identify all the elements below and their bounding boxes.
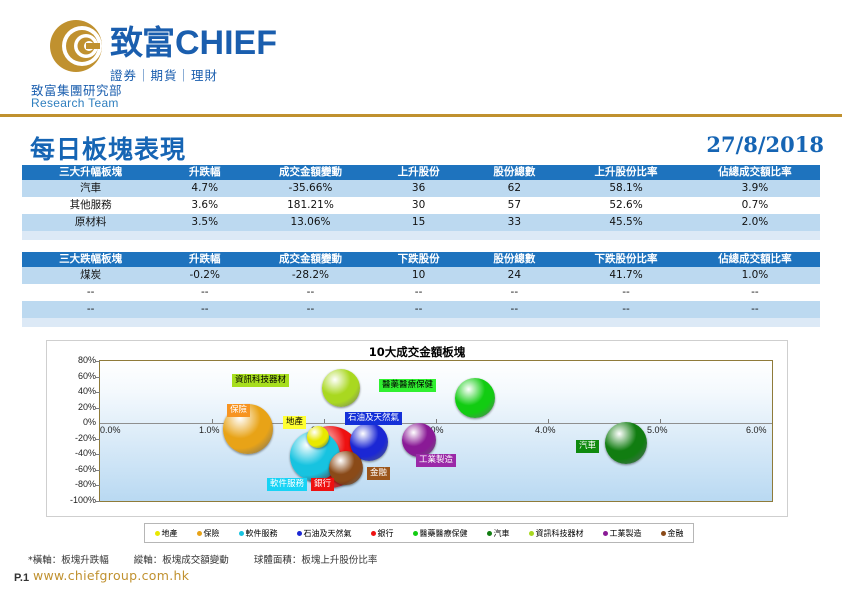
zero-axis-line [100, 423, 772, 424]
cell: -- [250, 301, 370, 318]
cell: -- [562, 284, 690, 301]
cell: -- [371, 284, 467, 301]
y-axis-tickmark [96, 392, 100, 393]
legend-label: 石油及天然氣 [304, 528, 352, 539]
legend-color-swatch [413, 531, 418, 536]
col-header: 成交金額變動 [250, 252, 370, 267]
cell: 4.7% [159, 180, 250, 197]
cell: 10 [371, 267, 467, 284]
chart-title: 10大成交金額板塊 [47, 344, 787, 360]
y-axis-tickmark [96, 377, 100, 378]
legend-label: 銀行 [378, 528, 394, 539]
legend-item-4[interactable]: 銀行 [371, 528, 394, 539]
chart-axis-note: *橫軸：板塊升跌幅 縱軸：板塊成交額變動 球體面積：板塊上升股份比率 [28, 552, 399, 566]
cell: 1.0% [690, 267, 820, 284]
legend-label: 資訊科技器材 [536, 528, 584, 539]
cell: 汽車 [22, 180, 159, 197]
table-footer-band [22, 231, 820, 240]
legend-label: 保險 [204, 528, 220, 539]
cell: -- [159, 301, 250, 318]
gold-divider [0, 114, 842, 117]
bubble-label-4: 銀行 [311, 478, 334, 491]
cell: 62 [466, 180, 562, 197]
website-url[interactable]: www.chiefgroup.com.hk [33, 568, 189, 583]
note-x-axis: *橫軸：板塊升跌幅 [28, 555, 109, 566]
x-axis-tick: 4.0% [535, 425, 556, 435]
x-axis-tick: 6.0% [746, 425, 767, 435]
y-axis-tick: 20% [78, 402, 96, 412]
y-axis-tickmark [96, 454, 100, 455]
y-axis-tick: 40% [78, 386, 96, 396]
legend-color-swatch [603, 531, 608, 536]
col-header: 三大跌幅板塊 [22, 252, 159, 267]
bubble-label-6: 汽車 [576, 440, 599, 453]
legend-color-swatch [239, 531, 244, 536]
table-row: 其他服務 3.6% 181.21% 30 57 52.6% 0.7% [22, 197, 820, 214]
legend-item-2[interactable]: 軟件服務 [239, 528, 278, 539]
y-axis-tickmark [96, 361, 100, 362]
chart-bubble-5[interactable] [455, 378, 495, 418]
cell: 0.7% [690, 197, 820, 214]
legend-color-swatch [197, 531, 202, 536]
legend-label: 地產 [162, 528, 178, 539]
chart-legend: 地產保險軟件服務石油及天然氣銀行醫藥醫療保健汽車資訊科技器材工業製造金融 [144, 523, 694, 543]
bubble-label-0: 地產 [283, 416, 306, 429]
chart-bubble-8[interactable] [402, 423, 436, 457]
y-axis-tickmark [96, 439, 100, 440]
note-bubble-size: 球體面積：板塊上升股份比率 [254, 555, 378, 566]
cell: -- [466, 301, 562, 318]
cell: 3.5% [159, 214, 250, 231]
table-row: 汽車 4.7% -35.66% 36 62 58.1% 3.9% [22, 180, 820, 197]
col-header: 下跌股份 [371, 252, 467, 267]
y-axis-tick: -80% [75, 479, 96, 489]
y-axis-tickmark [96, 408, 100, 409]
col-header: 上升股份比率 [562, 165, 690, 180]
cell: 58.1% [562, 180, 690, 197]
bubble-chart: 10大成交金額板塊 80%60%40%20%0%-20%-40%-60%-80%… [46, 340, 788, 517]
cell: 3.6% [159, 197, 250, 214]
logo-chinese-name: 致富 [110, 16, 174, 64]
legend-color-swatch [661, 531, 666, 536]
cell: 2.0% [690, 214, 820, 231]
cell: 181.21% [250, 197, 370, 214]
legend-item-3[interactable]: 石油及天然氣 [297, 528, 352, 539]
legend-color-swatch [529, 531, 534, 536]
y-axis-tick: -20% [75, 433, 96, 443]
legend-color-swatch [155, 531, 160, 536]
cell: -0.2% [159, 267, 250, 284]
legend-item-5[interactable]: 醫藥醫療保健 [413, 528, 468, 539]
col-header: 上升股份 [371, 165, 467, 180]
x-axis-tick: 0.0% [100, 425, 121, 435]
col-header: 升跌幅 [159, 165, 250, 180]
legend-color-swatch [371, 531, 376, 536]
col-header: 股份總數 [466, 252, 562, 267]
y-axis-tick: 60% [78, 371, 96, 381]
cell: -28.2% [250, 267, 370, 284]
legend-item-1[interactable]: 保險 [197, 528, 220, 539]
chart-bubble-9[interactable] [329, 451, 363, 485]
cell: -- [250, 284, 370, 301]
table-row: -- -- -- -- -- -- -- [22, 301, 820, 318]
cell: 煤炭 [22, 267, 159, 284]
bubble-label-7: 資訊科技器材 [232, 374, 289, 387]
bubble-label-2: 軟件服務 [267, 478, 307, 491]
cell: -- [690, 284, 820, 301]
gainers-table: 三大升幅板塊 升跌幅 成交金額變動 上升股份 股份總數 上升股份比率 佔總成交額… [22, 165, 820, 240]
cell: -35.66% [250, 180, 370, 197]
table-row: -- -- -- -- -- -- -- [22, 284, 820, 301]
y-axis-tickmark [96, 501, 100, 502]
bubble-label-8: 工業製造 [416, 454, 456, 467]
legend-item-8[interactable]: 工業製造 [603, 528, 642, 539]
table-footer-band [22, 318, 820, 327]
bubble-label-1: 保險 [227, 404, 250, 417]
logo-tagline: 證券｜期貨｜理財 [110, 65, 277, 84]
note-y-axis: 縱軸：板塊成交額變動 [134, 555, 229, 566]
legend-label: 醫藥醫療保健 [420, 528, 468, 539]
page-number: P.1 [14, 572, 29, 584]
cell: 52.6% [562, 197, 690, 214]
cell: -- [371, 301, 467, 318]
y-axis-tick: 0% [83, 417, 96, 427]
cell: 41.7% [562, 267, 690, 284]
cell: 其他服務 [22, 197, 159, 214]
cell: 33 [466, 214, 562, 231]
x-axis-tickmark [436, 419, 437, 423]
col-header: 升跌幅 [159, 252, 250, 267]
losers-table: 三大跌幅板塊 升跌幅 成交金額變動 下跌股份 股份總數 下跌股份比率 佔總成交額… [22, 252, 820, 327]
legend-label: 汽車 [494, 528, 510, 539]
col-header: 佔總成交額比率 [690, 165, 820, 180]
legend-item-7[interactable]: 資訊科技器材 [529, 528, 584, 539]
col-header: 股份總數 [466, 165, 562, 180]
page-header: 致富 CHIEF 證券｜期貨｜理財 致富集團研究部 Research Team [0, 0, 842, 116]
x-axis-tick: 5.0% [647, 425, 668, 435]
x-axis-tickmark [548, 419, 549, 423]
legend-color-swatch [487, 531, 492, 536]
x-axis-tickmark [212, 419, 213, 423]
bubble-label-9: 金融 [367, 467, 390, 480]
cell: -- [690, 301, 820, 318]
legend-label: 工業製造 [610, 528, 642, 539]
cell: -- [562, 301, 690, 318]
table-row: 原材料 3.5% 13.06% 15 33 45.5% 2.0% [22, 214, 820, 231]
y-axis-tick: 80% [78, 355, 96, 365]
cell: -- [22, 284, 159, 301]
bubble-label-3: 石油及天然氣 [345, 412, 402, 425]
bubble-label-5: 醫藥醫療保健 [379, 379, 436, 392]
report-date: 27/8/2018 [706, 132, 824, 157]
y-axis-tick: -60% [75, 464, 96, 474]
cell: 36 [371, 180, 467, 197]
page-title: 每日板塊表現 [30, 130, 186, 166]
cell: 13.06% [250, 214, 370, 231]
y-axis-tick: -100% [70, 495, 96, 505]
cell: 45.5% [562, 214, 690, 231]
y-axis-tickmark [96, 470, 100, 471]
legend-item-6[interactable]: 汽車 [487, 528, 510, 539]
legend-item-0[interactable]: 地產 [155, 528, 178, 539]
cell: 30 [371, 197, 467, 214]
cell: -- [22, 301, 159, 318]
logo-english-name: CHIEF [175, 24, 277, 63]
y-axis-tick: -40% [75, 448, 96, 458]
col-header: 成交金額變動 [250, 165, 370, 180]
chart-bubble-6[interactable] [605, 422, 647, 464]
col-header: 佔總成交額比率 [690, 252, 820, 267]
table-header-row: 三大升幅板塊 升跌幅 成交金額變動 上升股份 股份總數 上升股份比率 佔總成交額… [22, 165, 820, 180]
brand-logo: 致富 CHIEF 證券｜期貨｜理財 [48, 16, 277, 84]
legend-label: 金融 [668, 528, 684, 539]
cell: 3.9% [690, 180, 820, 197]
cell: -- [159, 284, 250, 301]
legend-item-9[interactable]: 金融 [661, 528, 684, 539]
legend-label: 軟件服務 [246, 528, 278, 539]
cell: 24 [466, 267, 562, 284]
chart-bubble-7[interactable] [322, 369, 360, 407]
col-header: 下跌股份比率 [562, 252, 690, 267]
legend-color-swatch [297, 531, 302, 536]
research-team-english: Research Team [31, 96, 119, 110]
cell: 57 [466, 197, 562, 214]
table-row: 煤炭 -0.2% -28.2% 10 24 41.7% 1.0% [22, 267, 820, 284]
cell: 原材料 [22, 214, 159, 231]
x-axis-tickmark [660, 419, 661, 423]
col-header: 三大升幅板塊 [22, 165, 159, 180]
table-header-row: 三大跌幅板塊 升跌幅 成交金額變動 下跌股份 股份總數 下跌股份比率 佔總成交額… [22, 252, 820, 267]
x-axis-tick: 1.0% [199, 425, 220, 435]
x-axis-tickmark [324, 419, 325, 423]
chief-logo-icon [48, 18, 104, 74]
y-axis-tickmark [96, 485, 100, 486]
cell: 15 [371, 214, 467, 231]
cell: -- [466, 284, 562, 301]
